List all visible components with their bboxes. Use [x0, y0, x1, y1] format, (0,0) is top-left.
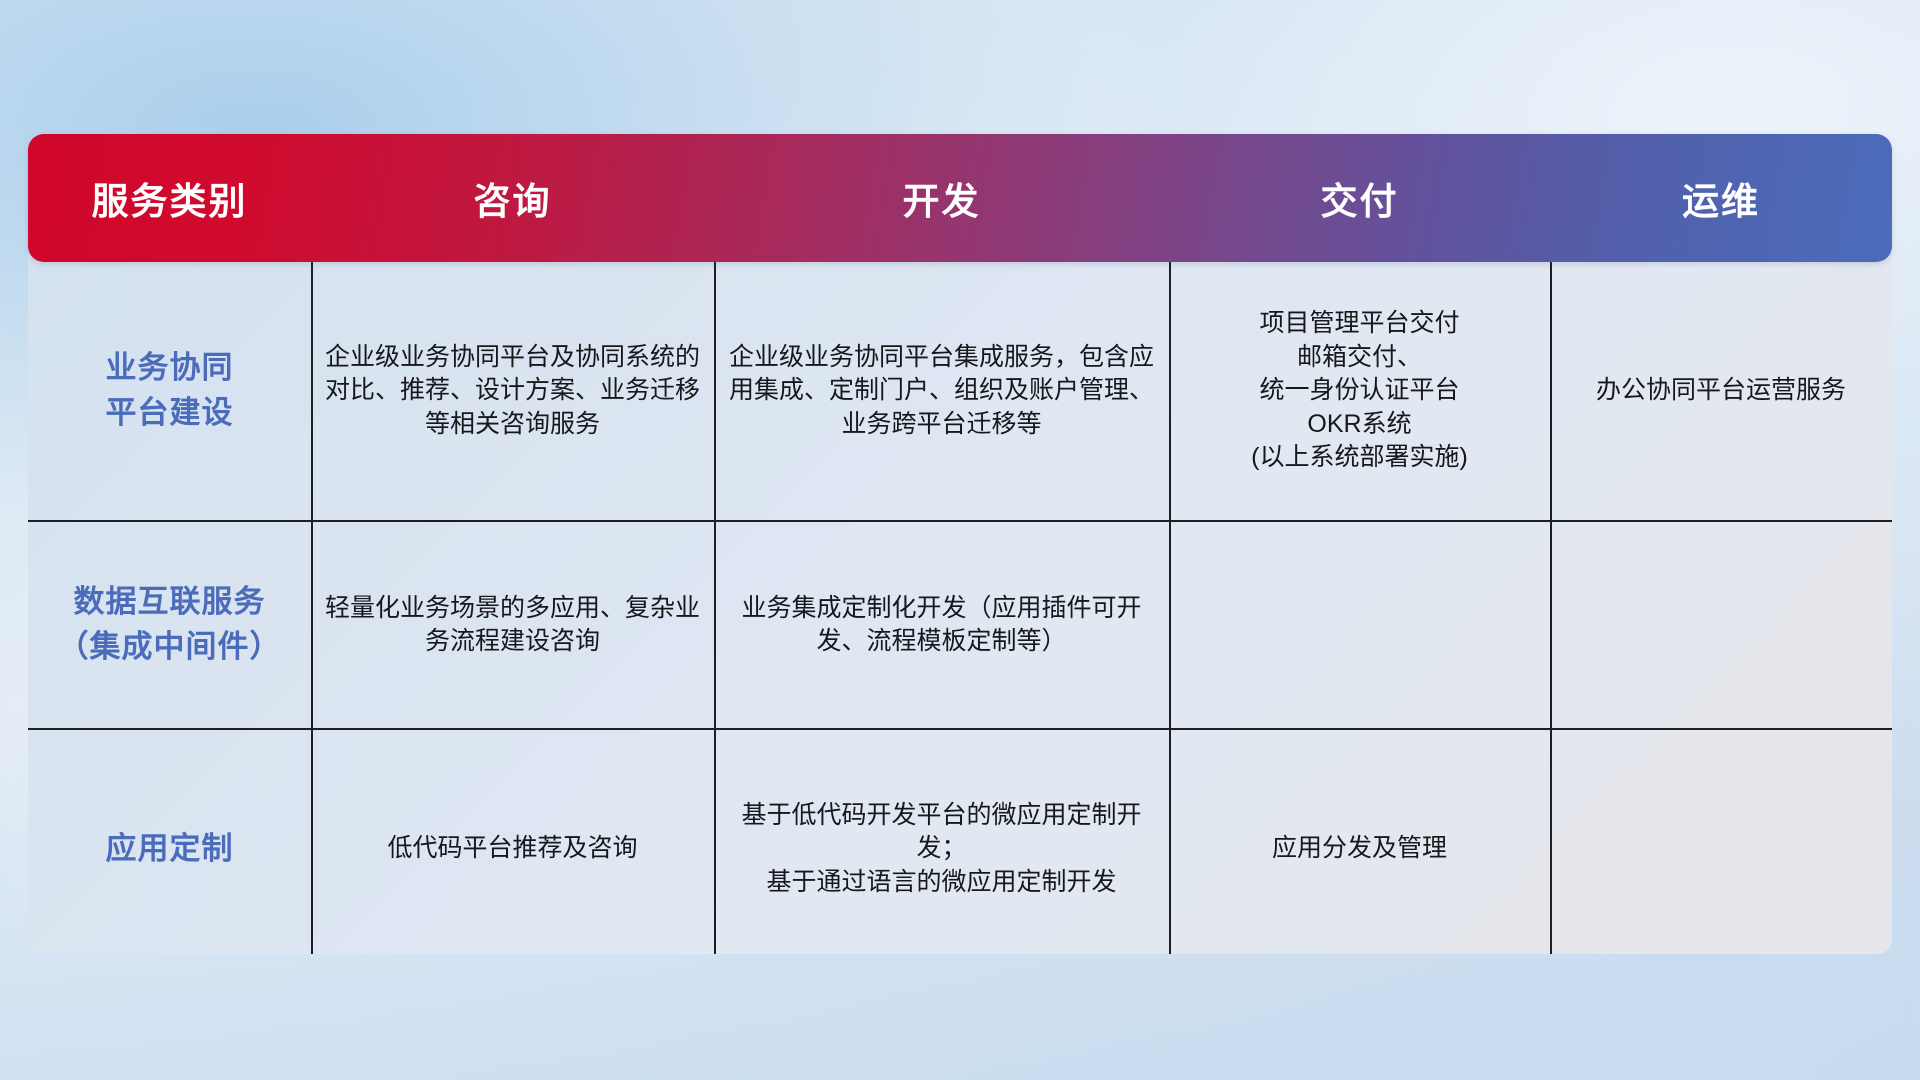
row-consulting-cell: 企业级业务协同平台及协同系统的对比、推荐、设计方案、业务迁移等相关咨询服务	[311, 262, 714, 520]
table-body: 业务协同 平台建设 企业级业务协同平台及协同系统的对比、推荐、设计方案、业务迁移…	[28, 248, 1892, 954]
row-development-cell: 企业级业务协同平台集成服务，包含应用集成、定制门户、组织及账户管理、业务跨平台迁…	[714, 262, 1169, 520]
row-consulting-cell: 低代码平台推荐及咨询	[311, 730, 714, 954]
column-header-service-category: 服务类别	[28, 134, 311, 262]
row-development-cell: 业务集成定制化开发（应用插件可开发、流程模板定制等）	[714, 522, 1169, 728]
table-row: 数据互联服务 （集成中间件） 轻量化业务场景的多应用、复杂业务流程建设咨询 业务…	[28, 520, 1892, 728]
row-operations-cell	[1550, 522, 1892, 728]
row-operations-cell	[1550, 730, 1892, 954]
column-header-consulting: 咨询	[311, 134, 714, 262]
column-header-operations: 运维	[1550, 134, 1892, 262]
row-operations-cell: 办公协同平台运营服务	[1550, 262, 1892, 520]
column-header-development: 开发	[714, 134, 1169, 262]
service-matrix-table: 服务类别 咨询 开发 交付 运维 业务协同 平台建设 企业级业务协同平台及协同系…	[28, 134, 1892, 954]
row-category-label: 应用定制	[28, 730, 311, 954]
row-delivery-cell: 应用分发及管理	[1169, 730, 1550, 954]
table-header-row: 服务类别 咨询 开发 交付 运维	[28, 134, 1892, 262]
row-category-label: 业务协同 平台建设	[28, 262, 311, 520]
row-delivery-cell: 项目管理平台交付 邮箱交付、 统一身份认证平台 OKR系统 (以上系统部署实施)	[1169, 262, 1550, 520]
row-delivery-cell	[1169, 522, 1550, 728]
table-row: 业务协同 平台建设 企业级业务协同平台及协同系统的对比、推荐、设计方案、业务迁移…	[28, 262, 1892, 520]
row-development-cell: 基于低代码开发平台的微应用定制开发； 基于通过语言的微应用定制开发	[714, 730, 1169, 954]
table-row: 应用定制 低代码平台推荐及咨询 基于低代码开发平台的微应用定制开发； 基于通过语…	[28, 728, 1892, 954]
row-category-label: 数据互联服务 （集成中间件）	[28, 522, 311, 728]
row-consulting-cell: 轻量化业务场景的多应用、复杂业务流程建设咨询	[311, 522, 714, 728]
column-header-delivery: 交付	[1169, 134, 1550, 262]
